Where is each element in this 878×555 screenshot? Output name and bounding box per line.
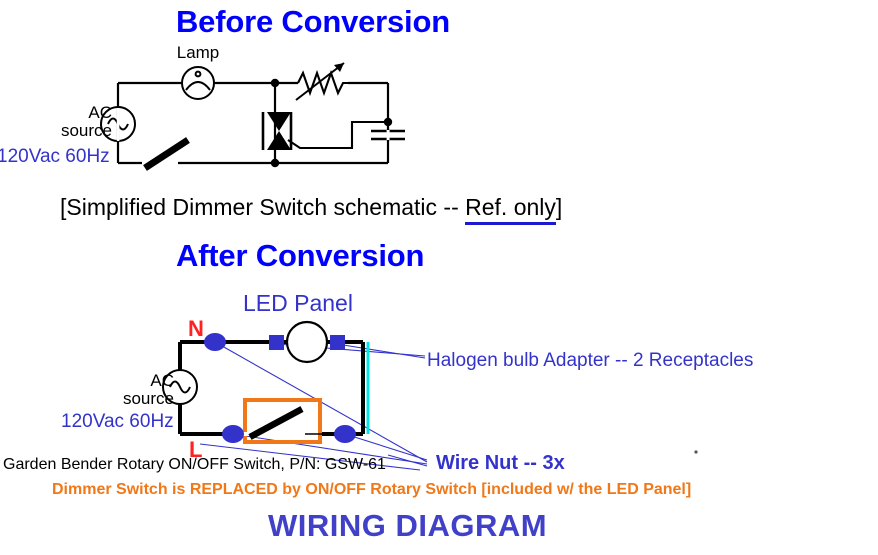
after-circuit-wires xyxy=(180,342,363,434)
rotary-switch-symbol xyxy=(243,409,330,437)
top-circuit-wires xyxy=(118,83,388,163)
receptacle-node-right xyxy=(330,335,345,350)
ac-source-label-top-line1: AC xyxy=(44,104,112,122)
dimmer-switch-symbol xyxy=(142,140,188,168)
callout-leader-lines xyxy=(200,342,427,470)
neutral-marker: N xyxy=(188,316,204,342)
before-conversion-caption: [Simplified Dimmer Switch schematic -- R… xyxy=(60,194,562,221)
before-conversion-heading: Before Conversion xyxy=(176,4,450,40)
led-panel-label: LED Panel xyxy=(243,290,353,317)
ac-source-rail-gap-bottom xyxy=(178,370,183,404)
capacitor-rail-gap xyxy=(387,130,390,140)
wire-nut-node-bottom-right xyxy=(334,425,356,443)
junction-dot-right xyxy=(384,118,392,126)
voltage-label-top: 120Vac 60Hz xyxy=(0,146,110,168)
replacement-note: Dimmer Switch is REPLACED by ON/OFF Rota… xyxy=(52,481,691,499)
rotary-switch-part-label: Garden Bender Rotary ON/OFF Switch, P/N:… xyxy=(3,456,386,474)
receptacle-node-left xyxy=(269,335,284,350)
stray-dot xyxy=(694,450,697,453)
caption-prefix: [Simplified Dimmer Switch schematic -- xyxy=(60,194,465,220)
halogen-adapter-callout: Halogen bulb Adapter -- 2 Receptacles xyxy=(427,350,753,372)
wire-nut-node-top xyxy=(204,333,226,351)
variable-resistor-symbol xyxy=(296,63,348,100)
capacitor-symbol xyxy=(371,131,405,139)
lamp-symbol xyxy=(182,67,214,99)
wiring-diagram-title: WIRING DIAGRAM xyxy=(268,508,547,544)
wiring-diagram-page: Before Conversion xyxy=(0,0,878,555)
wire-nut-callout: Wire Nut -- 3x xyxy=(436,452,565,475)
caption-suffix: ] xyxy=(556,194,562,220)
ac-source-rail-gap-top xyxy=(117,108,120,141)
lamp-label: Lamp xyxy=(170,44,226,62)
ac-source-label-bottom-line1: AC xyxy=(106,372,174,390)
wire-nut-node-bottom-left xyxy=(222,425,244,443)
triac-symbol xyxy=(263,112,388,150)
led-lamp-symbol xyxy=(287,322,327,362)
ac-source-label-bottom-line2: source xyxy=(96,390,174,408)
ac-source-label-top-line2: source xyxy=(34,122,112,140)
after-conversion-heading: After Conversion xyxy=(176,238,424,274)
junction-dot-bottom xyxy=(271,159,279,167)
junction-dot-top xyxy=(271,79,279,87)
voltage-label-bottom: 120Vac 60Hz xyxy=(61,411,174,433)
rotary-switch-box xyxy=(245,400,320,442)
caption-ref-only: Ref. only xyxy=(465,194,556,225)
